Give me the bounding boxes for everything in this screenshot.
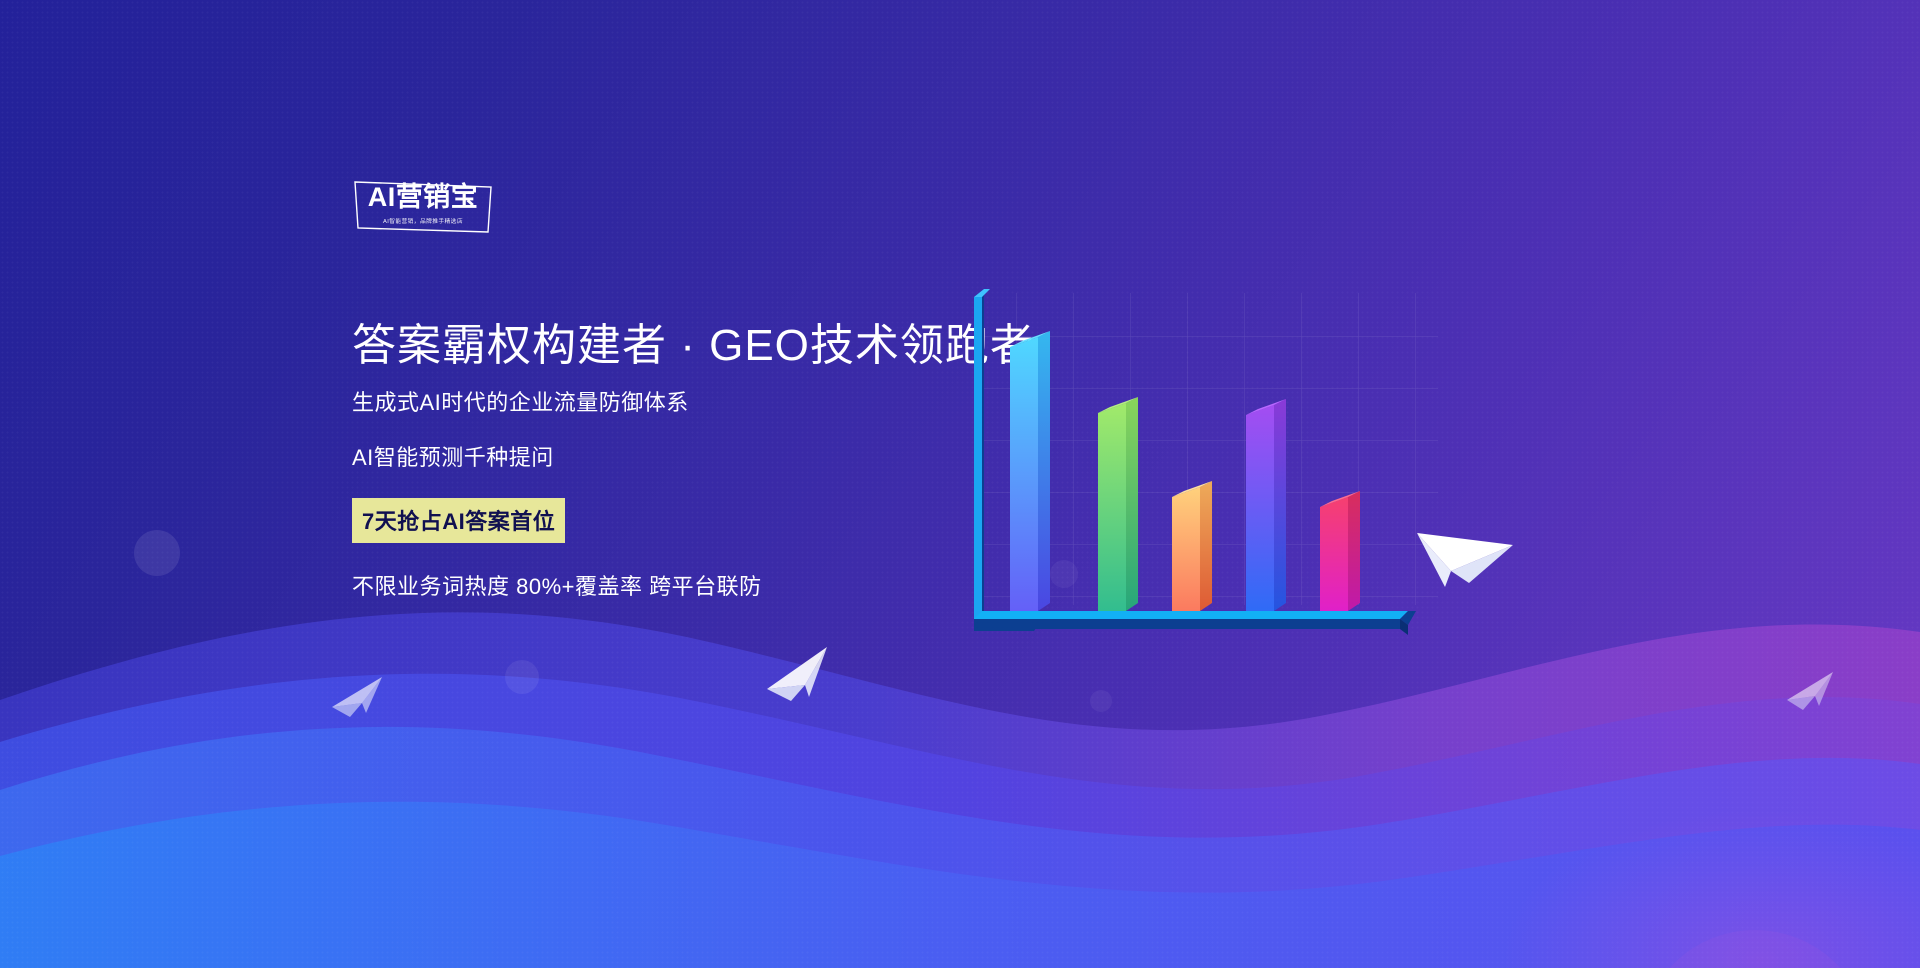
logo-tagline: AI智能营销，品牌推手精选店 [355, 216, 491, 225]
chart-bar [1098, 397, 1138, 611]
paper-plane-icon [1785, 670, 1843, 714]
hero-feature-line: AI智能预测千种提问 [352, 444, 1052, 473]
chart-bar [1246, 399, 1286, 611]
logo-wordmark: AI营销宝 [352, 183, 494, 211]
chart-bar [1172, 481, 1212, 611]
paper-plane-icon [765, 645, 845, 705]
chart-base [974, 611, 1416, 635]
highlight-row: 7天抢占AI答案首位 [352, 498, 1052, 543]
decor-circle [1640, 930, 1870, 968]
bar-chart-illustration [960, 285, 1460, 685]
brand-logo[interactable]: AI营销宝 AI智能营销，品牌推手精选店 [352, 178, 494, 236]
highlight-badge: 7天抢占AI答案首位 [352, 498, 565, 543]
decor-circle [505, 660, 539, 694]
paper-plane-icon [330, 675, 392, 721]
hero-subtitle: 生成式AI时代的企业流量防御体系 [352, 389, 1052, 418]
chart-bar [1010, 331, 1050, 611]
hero-tagline: 不限业务词热度 80%+覆盖率 跨平台联防 [352, 569, 1052, 601]
page-title: 答案霸权构建者 · GEO技术领跑者 [352, 318, 1052, 373]
decor-circle [1090, 690, 1112, 712]
hero-banner: AI营销宝 AI智能营销，品牌推手精选店 答案霸权构建者 · GEO技术领跑者 … [0, 0, 1920, 968]
hero-copy: 答案霸权构建者 · GEO技术领跑者 生成式AI时代的企业流量防御体系 AI智能… [352, 318, 1052, 601]
decor-circle [134, 530, 180, 576]
chart-bar [1320, 491, 1360, 611]
